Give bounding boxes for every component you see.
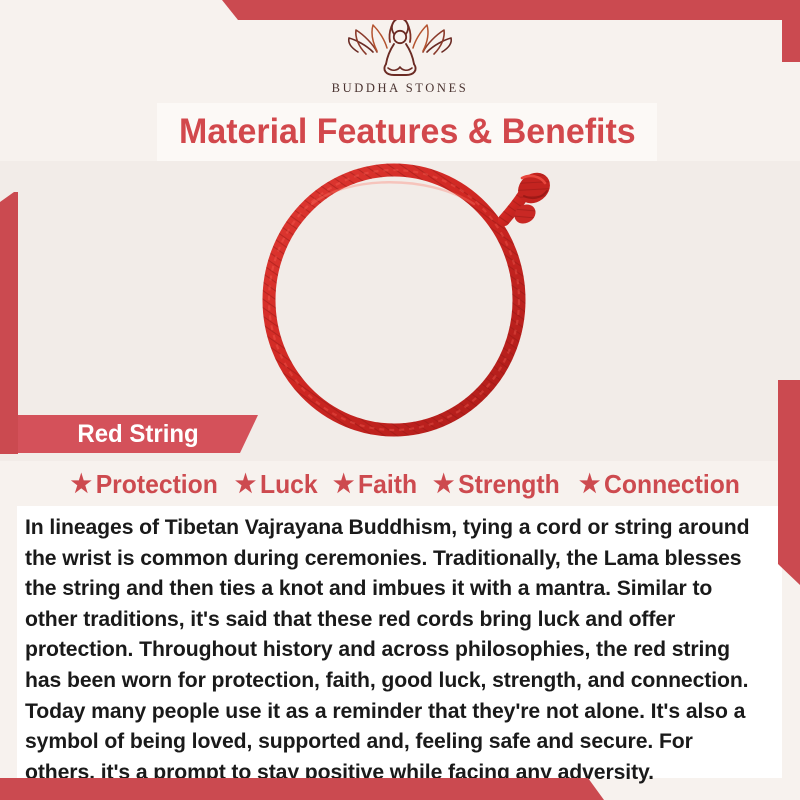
lotus-meditation-icon bbox=[344, 12, 456, 78]
benefit-item-strength: ★ Strength bbox=[423, 469, 560, 500]
star-icon: ★ bbox=[579, 472, 600, 497]
title-band: Material Features & Benefits bbox=[157, 103, 657, 161]
star-icon: ★ bbox=[333, 472, 354, 497]
benefits-list: ★ Protection ★ Luck ★ Faith ★ Strength ★… bbox=[0, 462, 800, 506]
red-string-bracelet-image bbox=[242, 161, 562, 442]
benefit-label: Connection bbox=[604, 469, 740, 500]
benefit-item-luck: ★ Luck bbox=[224, 469, 317, 500]
benefit-label: Protection bbox=[96, 469, 218, 500]
benefit-item-connection: ★ Connection bbox=[568, 469, 739, 500]
description-panel: In lineages of Tibetan Vajrayana Buddhis… bbox=[17, 506, 782, 778]
description-text: In lineages of Tibetan Vajrayana Buddhis… bbox=[25, 512, 763, 787]
page-title: Material Features & Benefits bbox=[179, 112, 636, 152]
decor-left-red-stripe bbox=[0, 192, 18, 454]
infographic-poster: BUDDHA STONES Material Features & Benefi… bbox=[0, 0, 800, 800]
benefit-item-protection: ★ Protection bbox=[60, 469, 218, 500]
decor-right-red-stripe bbox=[778, 380, 800, 585]
brand-wordmark: BUDDHA STONES bbox=[332, 81, 469, 96]
decor-right-top-red-stripe bbox=[782, 0, 800, 62]
benefit-item-faith: ★ Faith bbox=[322, 469, 417, 500]
star-icon: ★ bbox=[70, 472, 91, 497]
benefit-label: Faith bbox=[358, 469, 417, 500]
benefit-label: Luck bbox=[260, 469, 318, 500]
star-icon: ★ bbox=[235, 472, 256, 497]
product-name-label: Red String bbox=[22, 420, 199, 449]
star-icon: ★ bbox=[434, 472, 455, 497]
benefit-label: Strength bbox=[459, 469, 561, 500]
product-name-ribbon: Red String bbox=[18, 415, 258, 453]
